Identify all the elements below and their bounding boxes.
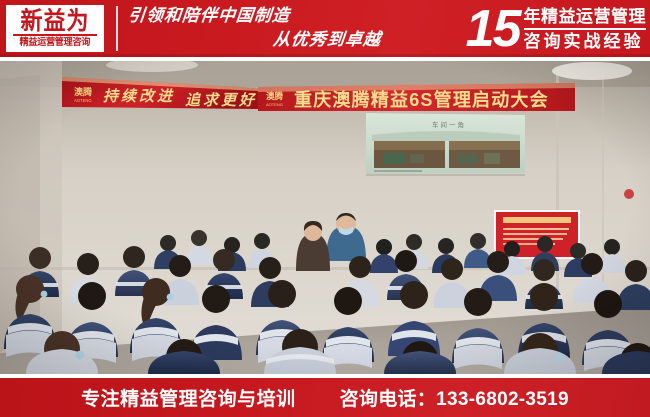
- logo-tagline-text: 精益运营管理咨询: [20, 37, 91, 48]
- slogan-line-1: 引领和陪伴中国制造: [127, 4, 395, 28]
- footer-phone[interactable]: 咨询电话：133-6802-3519: [340, 384, 569, 411]
- logo-brand-text: 新益为: [20, 8, 89, 35]
- header-banner: 新益为 精益运营管理咨询 引领和陪伴中国制造 从优秀到卓越 15 年精益运营管理…: [0, 0, 650, 57]
- event-photo: 澳腾 AOTENG 持续改进 追求更好 澳腾 AOTENG 重庆澳腾精益6S管理…: [0, 61, 650, 374]
- event-photo-illustration: 澳腾 AOTENG 持续改进 追求更好 澳腾 AOTENG 重庆澳腾精益6S管理…: [0, 61, 650, 374]
- page-root: 新益为 精益运营管理咨询 引领和陪伴中国制造 从优秀到卓越 15 年精益运营管理…: [0, 0, 650, 417]
- header-experience-block: 15 年精益运营管理 咨询实战经验: [466, 0, 646, 57]
- footer-slogan: 专注精益管理咨询与培训: [81, 384, 296, 411]
- header-slogan: 引领和陪伴中国制造 从优秀到卓越: [128, 4, 393, 54]
- header-vertical-divider: [116, 6, 118, 51]
- years-text-line-2: 咨询实战经验: [524, 31, 647, 52]
- footer-banner: 专注精益管理咨询与培训 咨询电话：133-6802-3519: [0, 378, 650, 417]
- company-logo[interactable]: 新益为 精益运营管理咨询: [6, 5, 104, 52]
- years-text-block: 年精益运营管理 咨询实战经验: [524, 6, 647, 52]
- years-text-line-1: 年精益运营管理: [524, 6, 647, 27]
- years-divider-rule: [524, 28, 647, 30]
- years-number: 15: [466, 3, 524, 55]
- slogan-line-2: 从优秀到卓越: [127, 28, 395, 52]
